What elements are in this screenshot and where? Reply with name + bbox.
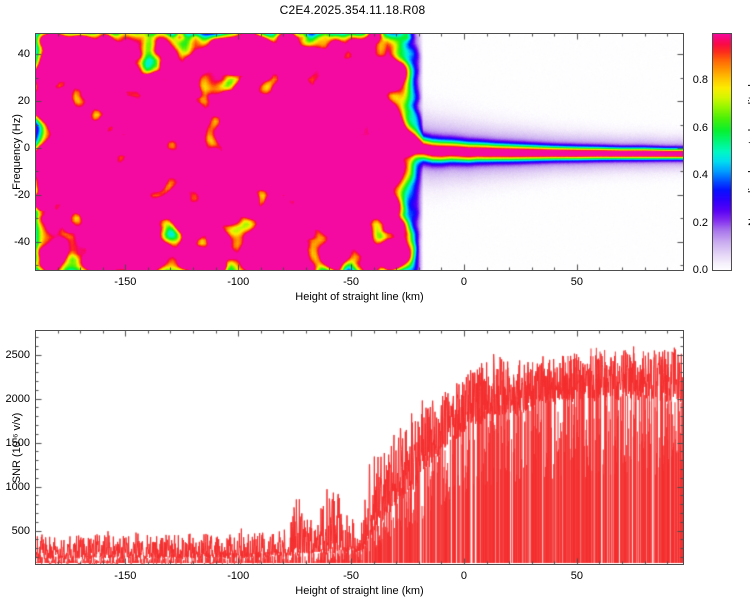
spectrogram-x-tick-label: -150 (114, 276, 136, 288)
colorbar-tick-label: 0.8 (693, 74, 708, 86)
snr-x-tick-label: 50 (571, 570, 583, 582)
colorbar-gradient (712, 33, 732, 271)
spectrogram-y-tick-label: 20 (18, 95, 30, 107)
spectrogram-y-tick-label: 40 (18, 48, 30, 60)
snr-panel (35, 330, 684, 565)
snr-x-tick-label: -50 (343, 570, 359, 582)
spectrogram-x-tick-label: -50 (343, 276, 359, 288)
colorbar (712, 33, 732, 271)
spectrogram-y-tick-label: -40 (14, 236, 30, 248)
spectrogram-panel (35, 33, 684, 271)
figure-root: C2E4.2025.354.11.18.R08 -150-100-50050-4… (0, 0, 750, 600)
snr-trace (36, 331, 683, 564)
figure-title: C2E4.2025.354.11.18.R08 (0, 2, 705, 18)
spectrogram-x-tick-label: 50 (571, 276, 583, 288)
snr-y-tick-label: 2000 (6, 393, 30, 405)
snr-y-tick-label: 500 (12, 525, 30, 537)
colorbar-tick-label: 0.2 (693, 217, 708, 229)
spectrogram-x-tick-label: -100 (227, 276, 249, 288)
spectrogram-y-axis-title: Frequency (Hz) (11, 114, 24, 190)
spectrogram-y-tick-label: 0 (24, 142, 30, 154)
snr-y-tick-label: 2500 (6, 349, 30, 361)
snr-x-tick-label: 0 (461, 570, 467, 582)
colorbar-tick-label: 0.4 (693, 169, 708, 181)
colorbar-tick-label: 0.6 (693, 122, 708, 134)
spectrogram-image (36, 34, 683, 270)
snr-y-axis-title: SNR (10 ⁶ v/v) (11, 412, 24, 483)
spectrogram-y-tick-label: -20 (14, 189, 30, 201)
spectrogram-x-tick-label: 0 (461, 276, 467, 288)
snr-x-tick-label: -150 (114, 570, 136, 582)
colorbar-tick-label: 0.0 (693, 264, 708, 276)
snr-x-tick-label: -100 (227, 570, 249, 582)
snr-x-axis-title: Height of straight line (km) (295, 585, 423, 598)
spectrogram-x-axis-title: Height of straight line (km) (295, 291, 423, 304)
